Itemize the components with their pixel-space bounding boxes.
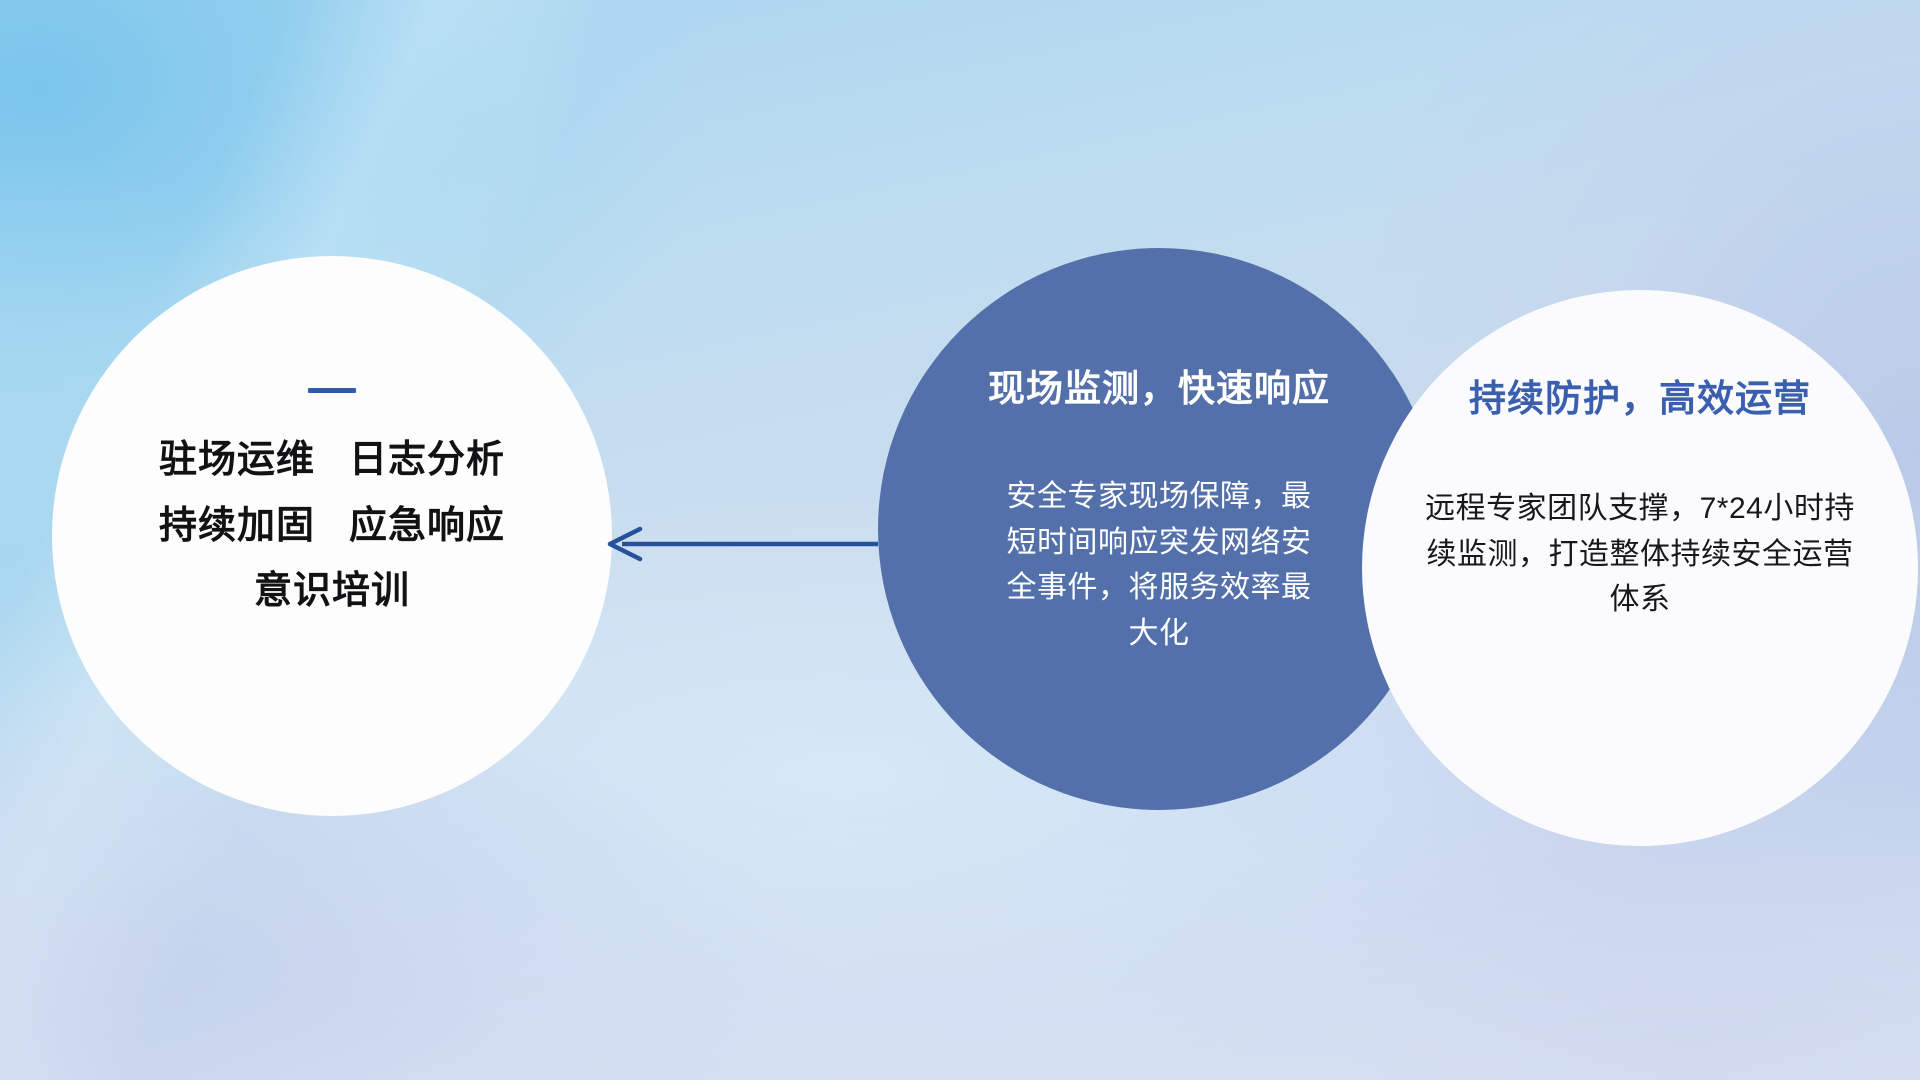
- capabilities-keyword-list: 驻场运维 日志分析 持续加固 应急响应 意识培训: [159, 439, 505, 614]
- capability-keyword: 持续加固: [159, 505, 315, 549]
- dash-divider-icon: [308, 388, 356, 393]
- capability-keyword: 日志分析: [349, 439, 505, 483]
- slide-canvas: 现场监测，快速响应 安全专家现场保障，最短时间响应突发网络安全事件，将服务效率最…: [0, 0, 1920, 1080]
- continuous-protection-title: 持续防护，高效运营: [1469, 368, 1811, 422]
- continuous-protection-body: 远程专家团队支撑，7*24小时持续监测，打造整体持续安全运营体系: [1424, 486, 1856, 623]
- onsite-monitoring-circle: 现场监测，快速响应 安全专家现场保障，最短时间响应突发网络安全事件，将服务效率最…: [878, 248, 1440, 810]
- onsite-monitoring-content: 现场监测，快速响应 安全专家现场保障，最短时间响应突发网络安全事件，将服务效率最…: [878, 358, 1440, 656]
- capability-keyword: 应急响应: [349, 505, 505, 549]
- capabilities-keyword-row: 驻场运维 日志分析: [159, 439, 505, 483]
- capability-keyword: 意识培训: [254, 570, 410, 614]
- continuous-protection-circle: 持续防护，高效运营 远程专家团队支撑，7*24小时持续监测，打造整体持续安全运营…: [1362, 290, 1918, 846]
- continuous-protection-content: 持续防护，高效运营 远程专家团队支撑，7*24小时持续监测，打造整体持续安全运营…: [1362, 368, 1918, 623]
- capabilities-keyword-row: 意识培训: [254, 570, 410, 614]
- capability-keyword: 驻场运维: [159, 439, 315, 483]
- onsite-monitoring-title: 现场监测，快速响应: [988, 358, 1330, 412]
- onsite-monitoring-body: 安全专家现场保障，最短时间响应突发网络安全事件，将服务效率最大化: [994, 474, 1324, 656]
- capabilities-circle: 驻场运维 日志分析 持续加固 应急响应 意识培训: [52, 256, 612, 816]
- capabilities-content: 驻场运维 日志分析 持续加固 应急响应 意识培训: [52, 388, 612, 614]
- capabilities-keyword-row: 持续加固 应急响应: [159, 505, 505, 549]
